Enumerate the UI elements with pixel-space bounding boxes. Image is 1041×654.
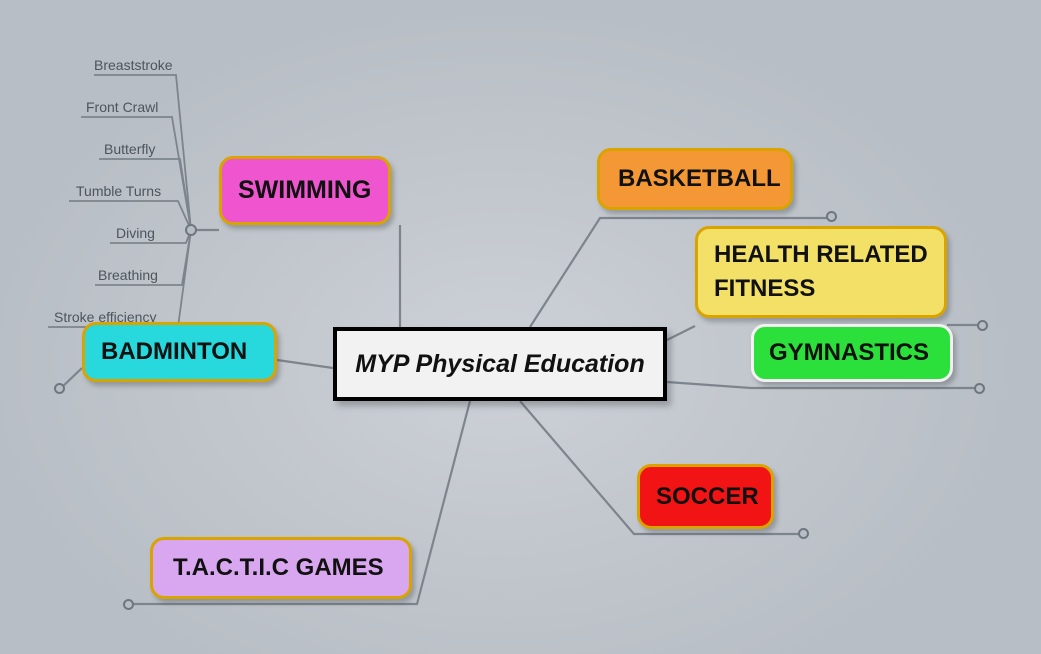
leaf-breathing: Breathing (98, 267, 158, 283)
leaf-tumble-turns: Tumble Turns (76, 183, 161, 199)
leaf-butterfly: Butterfly (104, 141, 155, 157)
edge-swim-frontcrawl (81, 117, 191, 230)
collapse-handle-swimming (186, 225, 196, 235)
leaf-breaststroke: Breaststroke (94, 57, 173, 73)
node-gymnastics[interactable]: GYMNASTICS (751, 324, 953, 382)
node-soccer[interactable]: SOCCER (637, 464, 774, 529)
node-basketball[interactable]: BASKETBALL (597, 148, 793, 210)
node-swimming[interactable]: SWIMMING (219, 156, 391, 225)
node-badminton[interactable]: BADMINTON (82, 322, 277, 382)
collapse-handle-badminton[interactable] (54, 383, 65, 394)
collapse-handle-soccer[interactable] (798, 528, 809, 539)
edge-center-health (667, 326, 695, 340)
collapse-handle-gymnastics[interactable] (974, 383, 985, 394)
collapse-handle-basketball[interactable] (826, 211, 837, 222)
node-health-related-fitness[interactable]: HEALTH RELATED FITNESS (695, 226, 947, 318)
node-center-myp-physical-education[interactable]: MYP Physical Education (333, 327, 667, 401)
leaf-diving: Diving (116, 225, 155, 241)
leaf-front-crawl: Front Crawl (86, 99, 158, 115)
collapse-handle-health[interactable] (977, 320, 988, 331)
collapse-handle-tactic[interactable] (123, 599, 134, 610)
node-tactic-games[interactable]: T.A.C.T.I.C GAMES (150, 537, 412, 599)
edge-center-badminton (277, 360, 333, 368)
edge-center-gymnastics (667, 382, 980, 388)
mindmap-canvas[interactable]: Breaststroke Front Crawl Butterfly Tumbl… (0, 0, 1041, 654)
